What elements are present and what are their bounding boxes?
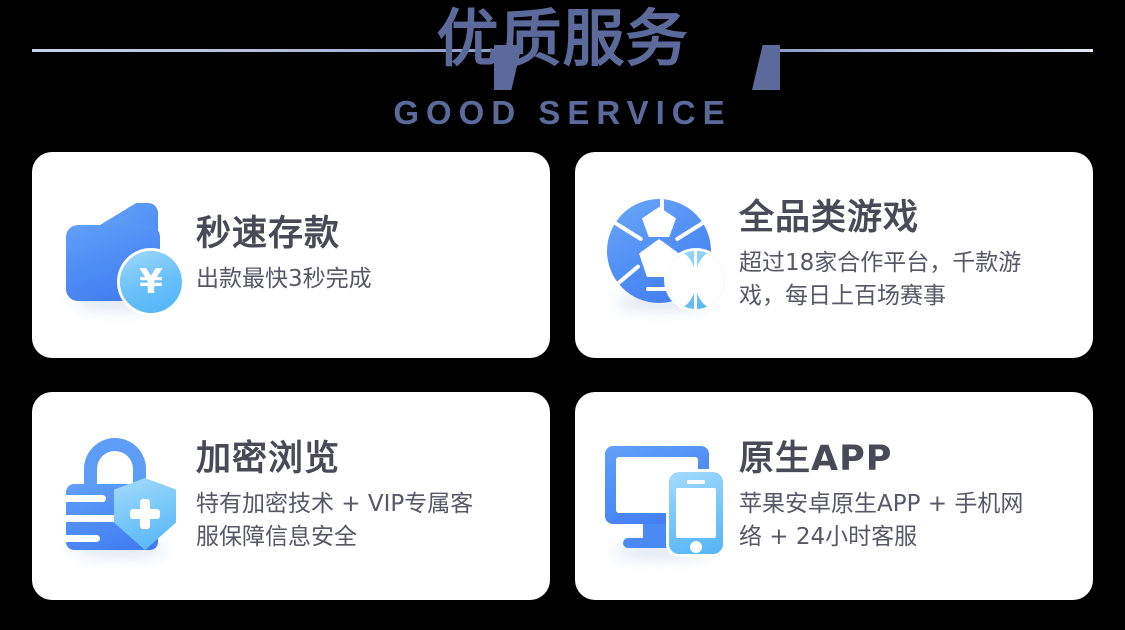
card-subtitle: 苹果安卓原生APP + 手机网络 + 24小时客服: [739, 488, 1039, 553]
banner-header: 优质服务 GOOD SERVICE: [0, 0, 1125, 148]
wallet-yen-icon: ¥: [58, 189, 190, 321]
yen-coin-badge: ¥: [120, 251, 182, 313]
page-title: 优质服务: [0, 8, 1125, 70]
page-subtitle: GOOD SERVICE: [0, 96, 1125, 129]
phone-icon: [669, 472, 723, 554]
monitor-phone-icon: [601, 430, 733, 562]
card-subtitle: 超过18家合作平台，千款游戏，每日上百场赛事: [739, 247, 1039, 312]
feature-card-encryption[interactable]: 加密浏览 特有加密技术 + VIP专属客服保障信息安全: [32, 392, 550, 600]
card-title: 原生APP: [739, 439, 1071, 479]
card-title: 加密浏览: [196, 439, 528, 479]
soccer-basketball-icon: [601, 189, 733, 321]
card-subtitle: 出款最快3秒完成: [196, 263, 528, 296]
card-subtitle: 特有加密技术 + VIP专属客服保障信息安全: [196, 488, 496, 553]
feature-card-native-app[interactable]: 原生APP 苹果安卓原生APP + 手机网络 + 24小时客服: [575, 392, 1093, 600]
feature-card-deposit[interactable]: ¥ 秒速存款 出款最快3秒完成: [32, 152, 550, 358]
promo-banner: 优质服务 GOOD SERVICE ¥ 秒速存款 出款最快3秒完成: [0, 0, 1125, 630]
card-title: 秒速存款: [196, 214, 528, 254]
card-title: 全品类游戏: [739, 198, 1071, 238]
feature-card-games[interactable]: 全品类游戏 超过18家合作平台，千款游戏，每日上百场赛事: [575, 152, 1093, 358]
basketball-icon: [667, 251, 725, 309]
lock-shield-icon: [58, 430, 190, 562]
feature-card-grid: ¥ 秒速存款 出款最快3秒完成 全品: [32, 152, 1093, 600]
